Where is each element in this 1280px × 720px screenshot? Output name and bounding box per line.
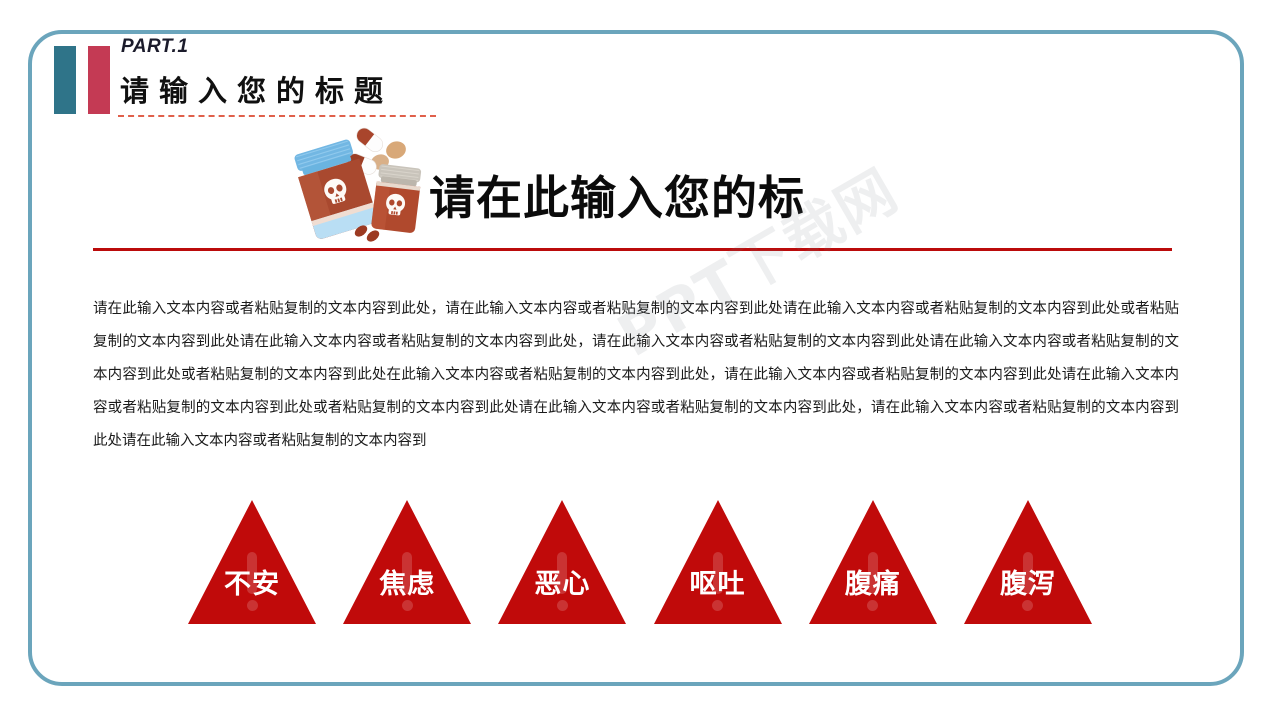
slide-canvas: PART.1 请输入您的标题: [0, 0, 1280, 720]
symptom-triangle-2[interactable]: 恶心: [498, 500, 626, 624]
symptom-label: 呕吐: [654, 562, 782, 601]
symptom-label: 腹泻: [964, 562, 1092, 601]
symptom-triangle-0[interactable]: 不安: [188, 500, 316, 624]
exclamation-dot-watermark: [712, 600, 723, 611]
symptom-triangle-4[interactable]: 腹痛: [809, 500, 937, 624]
header-dashed-divider: [118, 115, 436, 117]
symptom-triangle-row: 不安 焦虑 恶心 呕吐: [188, 500, 1092, 624]
body-paragraph: 请在此输入文本内容或者粘贴复制的文本内容到此处，请在此输入文本内容或者粘贴复制的…: [93, 293, 1179, 458]
symptom-triangle-1[interactable]: 焦虑: [343, 500, 471, 624]
main-title: 请在此输入您的标: [429, 162, 805, 228]
part-label: PART.1: [121, 36, 188, 58]
symptom-triangle-3[interactable]: 呕吐: [654, 500, 782, 624]
title-row: 请在此输入您的标: [283, 126, 883, 248]
header-accent-bar-crimson: [88, 46, 110, 114]
header-title: 请输入您的标题: [120, 68, 393, 110]
title-red-rule: [93, 248, 1172, 251]
exclamation-dot-watermark: [402, 600, 413, 611]
symptom-label: 恶心: [498, 562, 626, 601]
header-accent-bar-teal: [54, 46, 76, 114]
symptom-triangle-5[interactable]: 腹泻: [964, 500, 1092, 624]
symptom-label: 不安: [188, 562, 316, 601]
exclamation-dot-watermark: [247, 600, 258, 611]
exclamation-dot-watermark: [557, 600, 568, 611]
symptom-label: 腹痛: [809, 562, 937, 601]
poison-pill-bottles-icon: [283, 126, 435, 248]
symptom-label: 焦虑: [343, 562, 471, 601]
